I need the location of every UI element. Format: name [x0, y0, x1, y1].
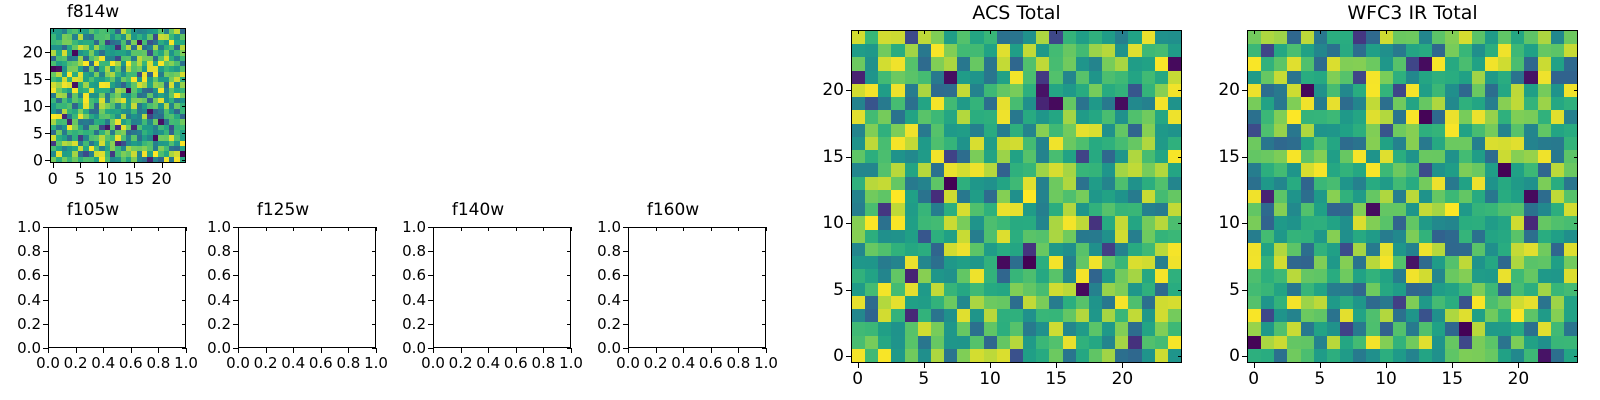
ytick-mark: [623, 300, 628, 301]
heatmap-cell: [1366, 44, 1379, 57]
heatmap-cell: [852, 322, 865, 335]
heatmap-cell: [1036, 349, 1049, 362]
heatmap-cell: [1538, 150, 1551, 163]
heatmap-cell: [1287, 71, 1300, 84]
heatmap-cell: [1498, 110, 1511, 123]
heatmap-cell: [997, 190, 1010, 203]
heatmap-cell: [997, 349, 1010, 362]
heatmap-cell: [865, 216, 878, 229]
xtick-mark: [266, 348, 267, 353]
heatmap-cell: [1248, 137, 1261, 150]
heatmap-cell: [984, 269, 997, 282]
heatmap-cell: [1340, 322, 1353, 335]
xtick-mark-top: [656, 227, 657, 231]
heatmap-cell: [1036, 71, 1049, 84]
heatmap-cell: [997, 256, 1010, 269]
xtick-mark: [131, 348, 132, 353]
heatmap-cell: [1340, 203, 1353, 216]
heatmap-cell: [1063, 110, 1076, 123]
heatmap-cell: [1115, 322, 1128, 335]
heatmap-cell: [931, 110, 944, 123]
ytick-mark: [1242, 157, 1247, 158]
heatmap-cell: [1340, 349, 1353, 362]
heatmap-cell: [1274, 216, 1287, 229]
heatmap-cell: [852, 44, 865, 57]
heatmap-cell: [1115, 243, 1128, 256]
heatmap-cell: [944, 216, 957, 229]
ytick-mark: [1242, 90, 1247, 91]
heatmap-cell: [1551, 110, 1564, 123]
heatmap-cell: [1406, 97, 1419, 110]
heatmap-cell: [918, 256, 931, 269]
heatmap-cell: [1142, 309, 1155, 322]
heatmap-cell: [1128, 336, 1141, 349]
heatmap-cell: [905, 216, 918, 229]
heatmap-cell: [1419, 243, 1432, 256]
heatmap-cell: [957, 124, 970, 137]
ytick-label: 0.4: [385, 291, 426, 309]
plot-title-wfc3-ir-total: WFC3 IR Total: [1247, 4, 1578, 23]
heatmap-cell: [1445, 256, 1458, 269]
xtick-mark-top: [628, 227, 629, 231]
heatmap-cell: [1380, 203, 1393, 216]
heatmap-cell: [1010, 230, 1023, 243]
heatmap-cell: [878, 322, 891, 335]
heatmap-cell: [1274, 150, 1287, 163]
ytick-mark: [428, 251, 433, 252]
ytick-mark: [846, 290, 851, 291]
ytick-mark-right: [1178, 223, 1182, 224]
heatmap-cell: [1538, 110, 1551, 123]
heatmap-cell: [1445, 137, 1458, 150]
heatmap-cell: [1459, 296, 1472, 309]
heatmap-cell: [1049, 203, 1062, 216]
heatmap-cell: [944, 31, 957, 44]
heatmap-cell: [931, 177, 944, 190]
ytick-label: 0.8: [385, 242, 426, 260]
heatmap-cell: [1076, 256, 1089, 269]
heatmap-cell: [1089, 163, 1102, 176]
heatmap-cell: [1459, 216, 1472, 229]
heatmap-cell: [1036, 283, 1049, 296]
heatmap-cell: [1168, 177, 1181, 190]
heatmap-cell: [1366, 57, 1379, 70]
heatmap-cell: [1301, 177, 1314, 190]
heatmap-cell: [918, 336, 931, 349]
heatmap-cell: [1393, 97, 1406, 110]
heatmap-cell: [1380, 110, 1393, 123]
heatmap-cell: [1261, 177, 1274, 190]
xtick-label: 0.2: [644, 354, 668, 372]
heatmap-cell: [1115, 296, 1128, 309]
heatmap-cell: [1340, 150, 1353, 163]
heatmap-cell: [1538, 336, 1551, 349]
heatmap-cell: [1327, 216, 1340, 229]
heatmap-cell: [957, 349, 970, 362]
heatmap-cell: [878, 256, 891, 269]
heatmap-cell: [1524, 150, 1537, 163]
heatmap-cell: [1353, 150, 1366, 163]
heatmap-cell: [1287, 110, 1300, 123]
heatmap-cell: [1472, 283, 1485, 296]
ytick-mark: [846, 157, 851, 158]
plot-area-acs-total[interactable]: [851, 30, 1182, 363]
heatmap-cell: [852, 57, 865, 70]
heatmap-cell: [1459, 349, 1472, 362]
heatmap-cell: [1498, 44, 1511, 57]
heatmap-cell: [1393, 336, 1406, 349]
plot-area-f814w[interactable]: [50, 28, 186, 163]
heatmap-cell: [1419, 216, 1432, 229]
heatmap-cell: [1248, 97, 1261, 110]
heatmap-cell: [1353, 163, 1366, 176]
heatmap-cell: [1459, 84, 1472, 97]
ytick-mark-right: [182, 160, 186, 161]
heatmap-cell: [1551, 256, 1564, 269]
heatmap-cell: [1327, 44, 1340, 57]
heatmap-cell: [1287, 203, 1300, 216]
ytick-mark-right: [1574, 356, 1578, 357]
heatmap-cell: [1142, 110, 1155, 123]
heatmap-cell: [1102, 177, 1115, 190]
heatmap-cell: [1551, 137, 1564, 150]
heatmap-cell: [1248, 349, 1261, 362]
heatmap-cell: [1036, 150, 1049, 163]
xtick-mark-top: [488, 227, 489, 231]
heatmap-cell: [852, 150, 865, 163]
heatmap-cell: [1128, 283, 1141, 296]
heatmap-cell: [1063, 309, 1076, 322]
heatmap-cell: [1301, 31, 1314, 44]
heatmap-cell: [984, 349, 997, 362]
heatmap-cell: [918, 84, 931, 97]
heatmap-cell: [1142, 243, 1155, 256]
heatmap-cell: [1538, 296, 1551, 309]
heatmap-cell: [1524, 349, 1537, 362]
heatmap-cell: [878, 190, 891, 203]
heatmap-cell: [1498, 349, 1511, 362]
heatmap-cell: [1327, 256, 1340, 269]
heatmap-cell: [1472, 190, 1485, 203]
heatmap-cell: [1102, 97, 1115, 110]
ytick-label: 15: [800, 147, 844, 167]
plot-area-f105w[interactable]: [48, 227, 186, 348]
xtick-mark-top: [158, 227, 159, 231]
heatmap-cell: [865, 150, 878, 163]
heatmap-cell: [1432, 163, 1445, 176]
heatmap-cell: [905, 177, 918, 190]
ytick-mark: [233, 300, 238, 301]
heatmap-cell: [1511, 283, 1524, 296]
heatmap-cell: [1128, 309, 1141, 322]
heatmap-cell: [1353, 190, 1366, 203]
ytick-mark-right: [372, 275, 376, 276]
heatmap-cell: [1287, 216, 1300, 229]
heatmap-cell: [1406, 283, 1419, 296]
heatmap-cell: [1340, 137, 1353, 150]
heatmap-cell: [1393, 124, 1406, 137]
heatmap-cell: [1168, 296, 1181, 309]
xtick-mark: [683, 348, 684, 353]
heatmap-cell: [1380, 163, 1393, 176]
heatmap-cell: [997, 97, 1010, 110]
xtick-label: 0.2: [254, 354, 278, 372]
heatmap-cell: [1248, 336, 1261, 349]
heatmap-cell: [1551, 230, 1564, 243]
heatmap-cell: [1142, 57, 1155, 70]
heatmap-cell: [1076, 309, 1089, 322]
heatmap-cell: [1314, 336, 1327, 349]
panel-acs-total: ACS Total 0510152005101520: [800, 0, 1190, 400]
xtick-label: 15: [1441, 369, 1463, 389]
plot-area-wfc3-ir-total[interactable]: [1247, 30, 1578, 363]
ytick-mark: [45, 106, 50, 107]
ytick-mark: [1242, 290, 1247, 291]
heatmap-cell: [1089, 283, 1102, 296]
heatmap-cell: [1314, 163, 1327, 176]
heatmap-cell: [1472, 150, 1485, 163]
heatmap-cell: [878, 97, 891, 110]
heatmap-cell: [984, 110, 997, 123]
heatmap-cell: [1472, 84, 1485, 97]
heatmap-cell: [1432, 256, 1445, 269]
heatmap-cell: [1314, 97, 1327, 110]
heatmap-cell: [1155, 57, 1168, 70]
xtick-mark: [376, 348, 377, 353]
heatmap-cell: [1380, 177, 1393, 190]
xtick-mark: [48, 348, 49, 353]
heatmap-cell: [1274, 44, 1287, 57]
heatmap-cell: [1076, 190, 1089, 203]
heatmap-cell: [905, 230, 918, 243]
heatmap-cell: [1168, 57, 1181, 70]
heatmap-cell: [1115, 230, 1128, 243]
heatmap-cell: [1327, 349, 1340, 362]
heatmap-cell: [1380, 137, 1393, 150]
heatmap-cell: [1274, 336, 1287, 349]
heatmap-cell: [1287, 163, 1300, 176]
heatmap-cell: [1023, 190, 1036, 203]
heatmap-cell: [1010, 190, 1023, 203]
plot-title-f140w: f140w: [385, 202, 571, 219]
heatmap-cell: [1327, 296, 1340, 309]
heatmap-cell: [1340, 110, 1353, 123]
xtick-label: 0.4: [476, 354, 500, 372]
heatmap-cell: [1511, 230, 1524, 243]
heatmap-cell: [1445, 71, 1458, 84]
heatmap-cell: [1063, 322, 1076, 335]
heatmap-cell: [1327, 110, 1340, 123]
heatmap-cell: [1274, 31, 1287, 44]
heatmap-cell: [1287, 296, 1300, 309]
heatmap-cell: [918, 309, 931, 322]
heatmap-cell: [1102, 216, 1115, 229]
plot-title-acs-total: ACS Total: [851, 4, 1182, 23]
heatmap-cell: [1261, 110, 1274, 123]
heatmap-cell: [1327, 322, 1340, 335]
heatmap-cell: [1115, 256, 1128, 269]
heatmap-cell: [1314, 84, 1327, 97]
ytick-label: 1.0: [190, 218, 231, 236]
heatmap-cell: [1301, 296, 1314, 309]
xtick-label: 0.8: [531, 354, 555, 372]
heatmap-cell: [1142, 203, 1155, 216]
heatmap-cell: [852, 84, 865, 97]
heatmap-cell: [1432, 177, 1445, 190]
heatmap-cell: [997, 137, 1010, 150]
xtick-mark-top: [48, 227, 49, 231]
heatmap-cell: [1023, 163, 1036, 176]
heatmap-cell: [1128, 137, 1141, 150]
heatmap-cell: [1432, 150, 1445, 163]
heatmap-cell: [1168, 110, 1181, 123]
heatmap-cell: [1445, 216, 1458, 229]
heatmap-cell: [891, 230, 904, 243]
heatmap-cell: [891, 216, 904, 229]
heatmap-cell: [1142, 84, 1155, 97]
heatmap-cell: [1010, 309, 1023, 322]
heatmap-cell: [1261, 230, 1274, 243]
heatmap-cell: [865, 57, 878, 70]
heatmap-cell: [878, 296, 891, 309]
heatmap-cell: [878, 57, 891, 70]
heatmap-cell: [1393, 71, 1406, 84]
heatmap-cell: [1445, 203, 1458, 216]
heatmap-cell: [1128, 31, 1141, 44]
heatmap-cell: [1327, 230, 1340, 243]
heatmap-cell: [1023, 177, 1036, 190]
heatmap-cell: [984, 124, 997, 137]
heatmap-cell: [1419, 283, 1432, 296]
plot-area-f125w[interactable]: [238, 227, 376, 348]
heatmap-cell: [1168, 322, 1181, 335]
heatmap-cell: [1327, 150, 1340, 163]
heatmap-cell: [1524, 336, 1537, 349]
heatmap-cell: [1485, 190, 1498, 203]
heatmap-cell: [1564, 177, 1577, 190]
heatmap-cell: [1327, 137, 1340, 150]
heatmap-cell: [1261, 150, 1274, 163]
heatmap-cell: [1023, 243, 1036, 256]
ytick-mark-right: [762, 275, 766, 276]
heatmap-cell: [905, 349, 918, 362]
heatmap-cell: [891, 309, 904, 322]
heatmap-cell: [1076, 203, 1089, 216]
heatmap-cell: [1353, 296, 1366, 309]
heatmap-cell: [891, 203, 904, 216]
xtick-label: 15: [1045, 369, 1067, 389]
heatmap-cell: [1472, 31, 1485, 44]
ytick-label: 0: [1196, 346, 1240, 366]
heatmap-cell: [1380, 256, 1393, 269]
panel-wfc3-ir-total: WFC3 IR Total 0510152005101520: [1196, 0, 1600, 400]
heatmap-cell: [1274, 137, 1287, 150]
heatmap-cell: [1432, 71, 1445, 84]
heatmap-cell: [1142, 230, 1155, 243]
heatmap-cell: [1301, 110, 1314, 123]
heatmap-cell: [865, 203, 878, 216]
heatmap-cell: [1419, 269, 1432, 282]
ytick-label: 0.0: [385, 339, 426, 357]
heatmap-cell: [1168, 243, 1181, 256]
ytick-mark: [623, 324, 628, 325]
heatmap-cell: [1036, 203, 1049, 216]
xtick-mark-top: [107, 28, 108, 32]
heatmap-cell: [1102, 322, 1115, 335]
heatmap-cell: [1115, 57, 1128, 70]
heatmap-cell: [1498, 230, 1511, 243]
xtick-label: 0.0: [616, 354, 640, 372]
heatmap-cell: [1142, 296, 1155, 309]
heatmap-cell: [1049, 216, 1062, 229]
xtick-mark: [238, 348, 239, 353]
heatmap-cell: [1261, 269, 1274, 282]
heatmap-cell: [1287, 57, 1300, 70]
xtick-label: 10: [97, 169, 117, 188]
heatmap-cell: [1327, 163, 1340, 176]
panel-f140w: f140w 0.00.20.40.60.81.00.00.20.40.60.81…: [385, 190, 585, 400]
heatmap-cell: [944, 150, 957, 163]
heatmap-cell: [1432, 283, 1445, 296]
heatmap-cell: [1049, 57, 1062, 70]
plot-area-f160w[interactable]: [628, 227, 766, 348]
heatmap-cell: [1063, 44, 1076, 57]
heatmap-cell: [1036, 163, 1049, 176]
heatmap-cell: [1261, 256, 1274, 269]
heatmap-cell: [997, 309, 1010, 322]
heatmap-cell: [931, 137, 944, 150]
heatmap-cell: [1524, 230, 1537, 243]
heatmap-cell: [957, 256, 970, 269]
heatmap-cell: [1036, 31, 1049, 44]
heatmap-cell: [1524, 203, 1537, 216]
heatmap-cell: [1485, 44, 1498, 57]
heatmap-cell: [865, 269, 878, 282]
heatmap-cell: [1089, 243, 1102, 256]
heatmap-cell: [1314, 309, 1327, 322]
heatmap-cell: [852, 269, 865, 282]
heatmap-cell: [970, 256, 983, 269]
heatmap-cell: [1076, 216, 1089, 229]
heatmap-cell: [1511, 57, 1524, 70]
heatmap-cell: [1445, 243, 1458, 256]
ytick-label: 0.0: [190, 339, 231, 357]
heatmap-cell: [1076, 336, 1089, 349]
heatmap-cell: [1102, 150, 1115, 163]
heatmap-cell: [1498, 84, 1511, 97]
heatmap-cell: [1248, 322, 1261, 335]
heatmap-cell: [1248, 150, 1261, 163]
heatmap-cell: [957, 44, 970, 57]
heatmap-cell: [878, 110, 891, 123]
plot-area-f140w[interactable]: [433, 227, 571, 348]
heatmap-cell: [891, 269, 904, 282]
heatmap-cell: [1551, 243, 1564, 256]
heatmap-cell: [1287, 336, 1300, 349]
heatmap-cell: [944, 230, 957, 243]
heatmap-cell: [1524, 322, 1537, 335]
xtick-mark: [158, 348, 159, 353]
xtick-mark: [858, 363, 859, 368]
heatmap-cell: [1393, 349, 1406, 362]
heatmap-cell: [984, 283, 997, 296]
xtick-mark: [293, 348, 294, 353]
ytick-mark-right: [567, 275, 571, 276]
heatmap-cell: [1010, 150, 1023, 163]
heatmap-cell: [1128, 269, 1141, 282]
heatmap-cell: [957, 31, 970, 44]
heatmap-cell: [957, 57, 970, 70]
